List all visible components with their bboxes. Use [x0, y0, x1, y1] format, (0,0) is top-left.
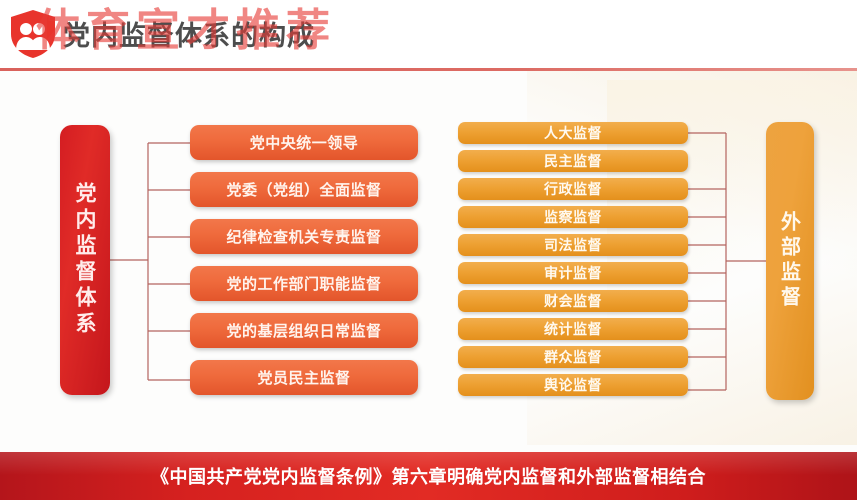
list-item-label: 民主监督 — [544, 151, 602, 171]
slide-canvas: 党内监督体系的构成 体育宣才推荐 党内监督体系 党中央统一领导 党委（党组）全面… — [0, 0, 857, 500]
external-supervision-pillar-label: 外部监督 — [776, 211, 805, 311]
list-item[interactable]: 监察监督 — [458, 206, 688, 228]
list-item[interactable]: 财会监督 — [458, 290, 688, 312]
list-item[interactable]: 民主监督 — [458, 150, 688, 172]
list-item-label: 审计监督 — [544, 263, 602, 283]
list-item-label: 监察监督 — [544, 207, 602, 227]
header-divider — [0, 68, 857, 71]
list-item-label: 统计监督 — [544, 319, 602, 339]
list-item-label: 司法监督 — [544, 235, 602, 255]
list-item[interactable]: 司法监督 — [458, 234, 688, 256]
list-item-label: 行政监督 — [544, 179, 602, 199]
list-item[interactable]: 人大监督 — [458, 122, 688, 144]
list-item-label: 群众监督 — [544, 347, 602, 367]
list-item[interactable]: 党委（党组）全面监督 — [190, 172, 418, 207]
list-item-label: 党的工作部门职能监督 — [226, 273, 381, 294]
connector-wires — [0, 0, 857, 500]
slide-header: 党内监督体系的构成 体育宣才推荐 — [0, 0, 857, 70]
footer-banner-text: 《中国共产党党内监督条例》第六章明确党内监督和外部监督相结合 — [151, 463, 706, 489]
external-supervision-list: 人大监督 民主监督 行政监督 监察监督 司法监督 审计监督 财会监督 统计监督 … — [458, 122, 688, 402]
list-item[interactable]: 群众监督 — [458, 346, 688, 368]
external-supervision-pillar[interactable]: 外部监督 — [766, 122, 814, 400]
inner-supervision-list: 党中央统一领导 党委（党组）全面监督 纪律检查机关专责监督 党的工作部门职能监督… — [190, 125, 418, 407]
list-item-label: 舆论监督 — [544, 375, 602, 395]
shield-people-icon — [8, 8, 58, 60]
list-item-label: 财会监督 — [544, 291, 602, 311]
inner-supervision-pillar[interactable]: 党内监督体系 — [60, 125, 110, 395]
list-item-label: 党员民主监督 — [257, 367, 350, 388]
list-item[interactable]: 舆论监督 — [458, 374, 688, 396]
list-item[interactable]: 审计监督 — [458, 262, 688, 284]
list-item[interactable]: 党的基层组织日常监督 — [190, 313, 418, 348]
page-title: 党内监督体系的构成 — [63, 14, 315, 53]
list-item-label: 纪律检查机关专责监督 — [226, 226, 381, 247]
list-item[interactable]: 统计监督 — [458, 318, 688, 340]
list-item[interactable]: 行政监督 — [458, 178, 688, 200]
list-item[interactable]: 党员民主监督 — [190, 360, 418, 395]
inner-supervision-pillar-label: 党内监督体系 — [70, 182, 100, 338]
list-item-label: 人大监督 — [544, 123, 602, 143]
list-item-label: 党中央统一领导 — [250, 132, 359, 153]
footer-banner: 《中国共产党党内监督条例》第六章明确党内监督和外部监督相结合 — [0, 452, 857, 500]
list-item-label: 党的基层组织日常监督 — [226, 320, 381, 341]
list-item[interactable]: 党中央统一领导 — [190, 125, 418, 160]
list-item[interactable]: 党的工作部门职能监督 — [190, 266, 418, 301]
list-item[interactable]: 纪律检查机关专责监督 — [190, 219, 418, 254]
list-item-label: 党委（党组）全面监督 — [226, 179, 381, 200]
